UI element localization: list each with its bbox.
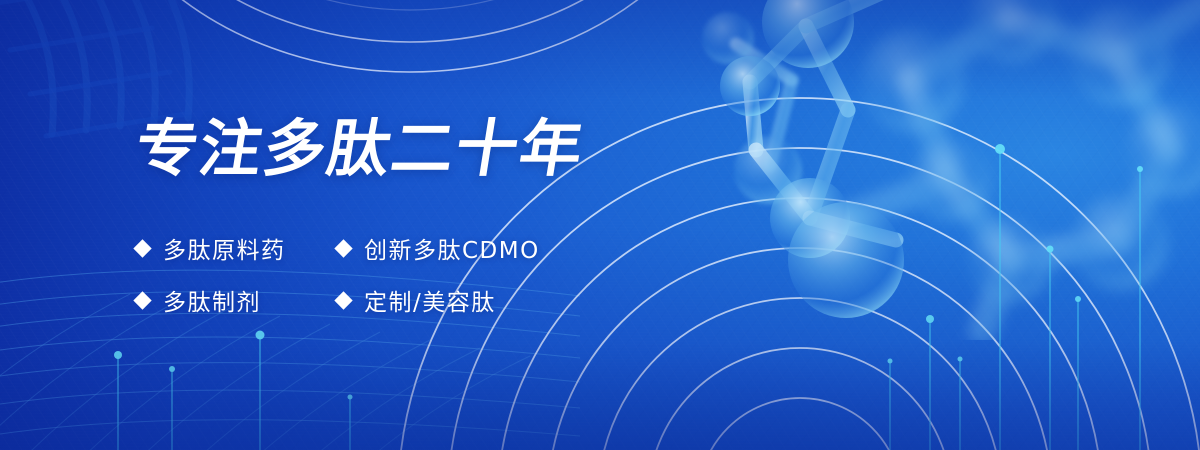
feature-item-custom-cosmetic-peptide[interactable]: 定制/美容肽 [337,283,540,317]
diamond-bullet-icon [133,239,151,257]
diamond-bullet-icon [334,291,352,309]
feature-label: 创新多肽CDMO [364,231,540,265]
feature-label: 多肽原料药 [163,231,286,265]
page-title: 专注多肽二十年 [131,118,589,180]
feature-list: 多肽原料药 创新多肽CDMO 多肽制剂 定制/美容肽 [136,222,540,326]
peptide-promo-banner: 专注多肽二十年 多肽原料药 创新多肽CDMO 多肽制剂 定制/美容肽 [0,0,1200,450]
diamond-bullet-icon [334,239,352,257]
feature-item-peptide-api[interactable]: 多肽原料药 [136,231,337,265]
feature-item-innovative-peptide-cdmo[interactable]: 创新多肽CDMO [337,231,540,265]
banner-content: 专注多肽二十年 多肽原料药 创新多肽CDMO 多肽制剂 定制/美容肽 [0,0,1200,450]
feature-label: 多肽制剂 [163,283,261,317]
diamond-bullet-icon [133,291,151,309]
feature-label: 定制/美容肽 [364,283,496,317]
feature-item-peptide-formulation[interactable]: 多肽制剂 [136,283,337,317]
